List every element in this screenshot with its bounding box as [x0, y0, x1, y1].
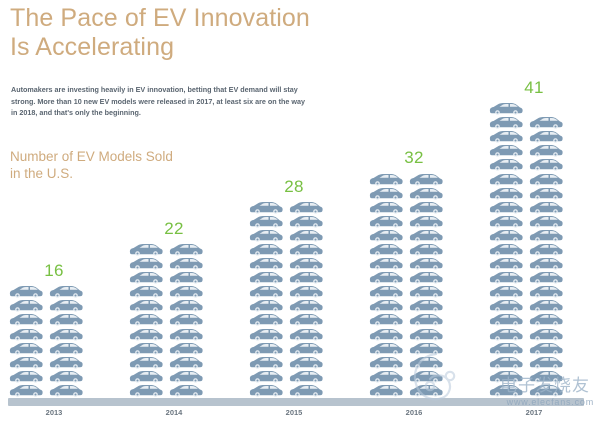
car-row: [368, 370, 444, 384]
chart-column-2013: [8, 285, 100, 398]
car-icon: [248, 299, 284, 313]
car-row: [248, 285, 324, 299]
car-icon: [488, 187, 524, 201]
car-icon: [368, 384, 404, 398]
car-icon: [408, 257, 444, 271]
car-row: [128, 257, 204, 271]
car-icon: [488, 313, 524, 327]
car-icon: [48, 384, 84, 398]
car-icon: [168, 285, 204, 299]
car-icon: [528, 158, 564, 172]
car-icon: [8, 370, 44, 384]
car-row: [488, 158, 564, 172]
bar-value-2017: 41: [488, 78, 580, 98]
car-icon: [8, 285, 44, 299]
car-icon: [528, 356, 564, 370]
car-icon: [408, 229, 444, 243]
car-icon: [288, 201, 324, 215]
bar-value-2013: 16: [8, 261, 100, 281]
car-icon: [128, 285, 164, 299]
car-icon: [248, 313, 284, 327]
car-row: [8, 370, 84, 384]
car-row: [368, 187, 444, 201]
car-icon: [528, 243, 564, 257]
car-icon: [248, 328, 284, 342]
car-row: [128, 384, 204, 398]
car-icon: [528, 271, 564, 285]
car-icon: [368, 271, 404, 285]
car-icon: [288, 342, 324, 356]
car-row: [248, 384, 324, 398]
car-row: [488, 243, 564, 257]
car-icon: [488, 201, 524, 215]
car-icon: [488, 130, 524, 144]
car-icon: [288, 215, 324, 229]
car-icon: [368, 229, 404, 243]
car-icon: [368, 201, 404, 215]
car-icon: [168, 356, 204, 370]
car-icon: [128, 243, 164, 257]
car-icon: [128, 384, 164, 398]
car-row: [248, 201, 324, 215]
car-icon: [488, 299, 524, 313]
car-row: [368, 384, 444, 398]
car-row: [248, 342, 324, 356]
chart-column-2014: [128, 243, 220, 398]
car-row: [488, 130, 564, 144]
car-row: [8, 328, 84, 342]
car-icon: [128, 356, 164, 370]
car-icon: [368, 299, 404, 313]
car-icon: [528, 215, 564, 229]
car-row: [488, 201, 564, 215]
car-row: [368, 299, 444, 313]
chart-column-2015: [248, 201, 340, 398]
car-icon: [168, 257, 204, 271]
car-row: [488, 229, 564, 243]
car-icon: [128, 257, 164, 271]
car-icon: [8, 342, 44, 356]
car-row: [128, 285, 204, 299]
car-icon: [488, 243, 524, 257]
car-row: [248, 370, 324, 384]
car-row: [488, 102, 524, 116]
watermark-brand: 电子发烧友: [500, 371, 590, 396]
car-row: [8, 356, 84, 370]
car-icon: [528, 342, 564, 356]
car-icon: [368, 342, 404, 356]
chart-column-2017: [488, 102, 580, 398]
car-icon: [248, 356, 284, 370]
car-icon: [168, 328, 204, 342]
car-icon: [168, 313, 204, 327]
car-icon: [528, 285, 564, 299]
car-icon: [128, 299, 164, 313]
car-icon: [48, 342, 84, 356]
car-icon: [488, 158, 524, 172]
car-icon: [528, 173, 564, 187]
car-row: [488, 342, 564, 356]
car-row: [488, 299, 564, 313]
car-icon: [488, 356, 524, 370]
car-icon: [248, 370, 284, 384]
car-icon: [368, 173, 404, 187]
car-icon: [488, 271, 524, 285]
car-icon: [488, 173, 524, 187]
car-row: [368, 173, 444, 187]
car-icon: [488, 328, 524, 342]
bar-value-2014: 22: [128, 219, 220, 239]
x-axis-label-2015: 2015: [248, 408, 340, 417]
car-row: [488, 116, 564, 130]
car-icon: [408, 243, 444, 257]
car-row: [8, 299, 84, 313]
car-icon: [528, 187, 564, 201]
car-row: [488, 328, 564, 342]
car-icon: [528, 229, 564, 243]
car-icon: [248, 271, 284, 285]
car-icon: [408, 215, 444, 229]
car-icon: [408, 285, 444, 299]
x-axis-bar: [8, 398, 584, 406]
car-icon: [488, 257, 524, 271]
car-row: [248, 257, 324, 271]
car-icon: [168, 342, 204, 356]
car-icon: [48, 313, 84, 327]
infographic-root: The Pace of EV Innovation Is Acceleratin…: [0, 0, 600, 422]
car-icon: [368, 285, 404, 299]
chart-column-2016: [368, 173, 460, 399]
car-icon: [488, 229, 524, 243]
car-icon: [288, 384, 324, 398]
car-row: [128, 370, 204, 384]
car-row: [368, 215, 444, 229]
car-icon: [368, 215, 404, 229]
car-row: [488, 187, 564, 201]
car-icon: [248, 229, 284, 243]
car-row: [488, 285, 564, 299]
x-axis-label-2017: 2017: [488, 408, 580, 417]
car-row: [8, 384, 84, 398]
car-icon: [128, 313, 164, 327]
car-icon: [248, 384, 284, 398]
car-icon: [128, 370, 164, 384]
car-icon: [528, 257, 564, 271]
car-icon: [408, 173, 444, 187]
car-row: [128, 356, 204, 370]
car-icon: [528, 299, 564, 313]
car-row: [368, 356, 444, 370]
car-icon: [288, 328, 324, 342]
car-row: [368, 342, 444, 356]
car-icon: [128, 342, 164, 356]
car-row: [248, 243, 324, 257]
car-icon: [248, 257, 284, 271]
x-axis-label-2014: 2014: [128, 408, 220, 417]
car-icon: [408, 384, 444, 398]
car-icon: [368, 243, 404, 257]
car-row: [128, 313, 204, 327]
car-icon: [248, 243, 284, 257]
car-icon: [528, 144, 564, 158]
car-row: [128, 328, 204, 342]
car-icon: [288, 356, 324, 370]
car-icon: [488, 285, 524, 299]
car-icon: [488, 102, 524, 116]
car-icon: [168, 370, 204, 384]
car-row: [128, 243, 204, 257]
x-axis-label-2013: 2013: [8, 408, 100, 417]
car-row: [368, 271, 444, 285]
car-row: [368, 229, 444, 243]
car-icon: [48, 299, 84, 313]
car-icon: [48, 285, 84, 299]
car-icon: [248, 215, 284, 229]
car-icon: [368, 356, 404, 370]
car-icon: [248, 285, 284, 299]
watermark-url: www.elecfans.com: [507, 397, 594, 407]
car-icon: [528, 116, 564, 130]
bar-value-2016: 32: [368, 148, 460, 168]
car-icon: [488, 342, 524, 356]
car-row: [128, 299, 204, 313]
car-icon: [288, 257, 324, 271]
car-icon: [488, 144, 524, 158]
car-icon: [408, 370, 444, 384]
car-row: [248, 271, 324, 285]
car-row: [488, 257, 564, 271]
car-icon: [128, 328, 164, 342]
car-row: [368, 257, 444, 271]
car-icon: [248, 201, 284, 215]
car-row: [488, 271, 564, 285]
car-icon: [528, 313, 564, 327]
car-icon: [528, 328, 564, 342]
car-icon: [368, 328, 404, 342]
car-icon: [48, 328, 84, 342]
car-row: [248, 229, 324, 243]
car-icon: [288, 370, 324, 384]
car-row: [128, 271, 204, 285]
car-icon: [408, 313, 444, 327]
car-row: [368, 243, 444, 257]
car-icon: [528, 130, 564, 144]
car-icon: [168, 271, 204, 285]
car-icon: [408, 271, 444, 285]
car-icon: [288, 271, 324, 285]
car-icon: [368, 187, 404, 201]
car-icon: [288, 313, 324, 327]
car-icon: [8, 328, 44, 342]
car-icon: [408, 356, 444, 370]
car-row: [488, 144, 564, 158]
car-icon: [8, 313, 44, 327]
car-icon: [408, 328, 444, 342]
pictogram-chart: 162013222014282015322016412017: [0, 0, 600, 422]
car-icon: [288, 299, 324, 313]
car-icon: [408, 299, 444, 313]
car-icon: [488, 215, 524, 229]
car-row: [8, 313, 84, 327]
car-row: [488, 356, 564, 370]
car-icon: [248, 342, 284, 356]
car-icon: [128, 271, 164, 285]
car-icon: [168, 384, 204, 398]
car-row: [368, 328, 444, 342]
x-axis-label-2016: 2016: [368, 408, 460, 417]
car-icon: [408, 201, 444, 215]
car-row: [248, 299, 324, 313]
car-row: [488, 173, 564, 187]
car-icon: [528, 201, 564, 215]
car-row: [248, 328, 324, 342]
car-row: [368, 285, 444, 299]
car-icon: [368, 370, 404, 384]
car-icon: [408, 187, 444, 201]
car-row: [248, 313, 324, 327]
car-icon: [408, 342, 444, 356]
car-icon: [48, 370, 84, 384]
car-icon: [288, 285, 324, 299]
car-row: [488, 215, 564, 229]
car-icon: [488, 116, 524, 130]
car-row: [368, 313, 444, 327]
car-row: [368, 201, 444, 215]
car-icon: [8, 299, 44, 313]
car-icon: [368, 257, 404, 271]
bar-value-2015: 28: [248, 177, 340, 197]
car-row: [8, 285, 84, 299]
car-row: [248, 356, 324, 370]
car-icon: [8, 356, 44, 370]
car-row: [248, 215, 324, 229]
car-icon: [288, 243, 324, 257]
car-icon: [368, 313, 404, 327]
car-row: [8, 342, 84, 356]
car-icon: [8, 384, 44, 398]
car-icon: [168, 243, 204, 257]
car-row: [488, 313, 564, 327]
car-row: [128, 342, 204, 356]
car-icon: [288, 229, 324, 243]
car-icon: [168, 299, 204, 313]
car-icon: [48, 356, 84, 370]
